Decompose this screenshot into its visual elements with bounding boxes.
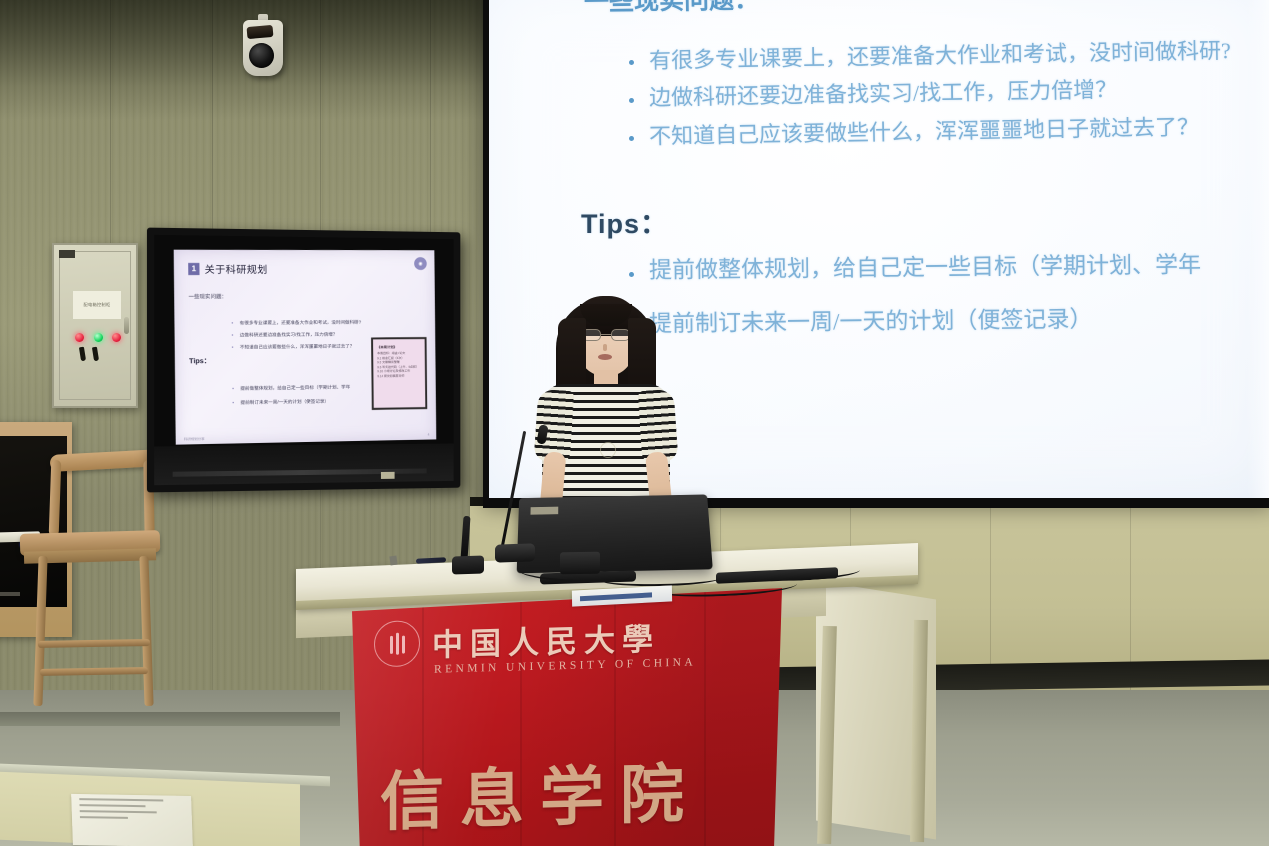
projected-bullet-3: 不知道自己应该要做些什么，浑浑噩噩地日子就过去了？ [649, 109, 1199, 151]
camera-body [243, 20, 283, 76]
chair-rung-lower [40, 667, 148, 676]
panel-switches[interactable] [80, 347, 110, 361]
sticky-note-image: 《本周计划》 本周目标：组会+论文 9.1 组会汇报（2次） 9.3 文献精读整… [371, 337, 427, 410]
slide-title: 关于科研规划 [204, 261, 267, 276]
panel-door-frame [59, 251, 131, 400]
electrical-panel[interactable]: 配电箱控制柜 [52, 243, 138, 408]
name-card-text-strip [580, 592, 652, 601]
desktop-monitor[interactable] [517, 494, 713, 573]
paper-sheet [71, 794, 193, 846]
panel-indicator-lights [75, 333, 121, 342]
lcd-power-led [381, 472, 395, 479]
sticky-note-title: 《本周计划》 [377, 344, 421, 349]
slide-tips-heading: Tips： [189, 356, 211, 366]
slide-page-number: 4 [428, 433, 430, 437]
projected-tip-1: 提前做整体规划，给自己定一些目标（学期计划、学年 [649, 245, 1201, 285]
security-camera-icon [243, 20, 283, 76]
shirt-emblem [600, 442, 616, 458]
screen-right-cutoff [1247, 0, 1269, 498]
bullet-dot-icon [629, 60, 634, 65]
projected-bullet-1: 有很多专业课要上，还要准备大作业和考试，没时间做科研? [649, 33, 1231, 75]
chair-leg-left [33, 556, 47, 706]
camera-ir-strip [247, 25, 274, 39]
chair-rung-upper [38, 639, 150, 648]
presenter-mouth [598, 354, 612, 360]
slide-lead-text: 一些现实问题： [188, 292, 226, 300]
microphone-base[interactable] [495, 543, 535, 562]
small-clip[interactable] [389, 556, 397, 566]
slide-number-badge: 1 [188, 262, 199, 274]
indicator-light-red-1 [75, 333, 84, 342]
indicator-light-green [94, 333, 103, 342]
slide-logo-badge: ◉ [414, 257, 427, 270]
projected-tips-heading: Tips： [581, 202, 668, 241]
lecture-hall-photo: 配电箱控制柜 1 关 [0, 0, 1269, 846]
panel-door-handle[interactable] [124, 317, 129, 334]
presenter [536, 292, 676, 517]
projected-tip-2: 提前制订未来一周/一天的计划（便签记录） [649, 300, 1093, 339]
bullet-dot-icon [629, 272, 634, 277]
switch-lever-2[interactable] [92, 347, 99, 362]
sticky-note-line: 9.14 提交初稿至导师 [377, 373, 421, 378]
panel-tag [59, 250, 75, 258]
panel-label: 配电箱控制柜 [73, 291, 121, 319]
chair-leg-right [139, 556, 153, 706]
list-item: 有很多专业课要上，还要准备大作业和考试，没时间做科研? [240, 320, 399, 326]
lcd-screen: 1 关于科研规划 ◉ 一些现实问题： 有很多专业课要上，还要准备大作业和考试，没… [174, 250, 437, 445]
second-microphone-base[interactable] [452, 555, 484, 574]
floor-step [0, 712, 340, 726]
glasses-icon [582, 329, 630, 341]
cabinet-label-strip [0, 592, 20, 596]
lcd-bottom-bezel [154, 444, 453, 486]
bullet-dot-icon [629, 136, 634, 141]
presenter-nose [603, 344, 607, 351]
wall-lcd-display[interactable]: 1 关于科研规划 ◉ 一些现实问题： 有很多专业课要上，还要准备大作业和考试，没… [147, 228, 460, 493]
banner-department: 信息学院 [380, 742, 700, 843]
slide-problem-bullets: 有很多专业课要上，还要准备大作业和考试，没时间做科研? 边做科研还要边准备找实习… [199, 320, 399, 357]
slide-content: 1 关于科研规划 ◉ 一些现实问题： 有很多专业课要上，还要准备大作业和考试，没… [174, 250, 437, 445]
monitor-label [530, 507, 558, 515]
projected-bullet-2: 边做科研还要边准备找实习/找工作，压力倍增？ [649, 72, 1118, 112]
slide-title-row: 1 关于科研规划 [188, 261, 427, 276]
bullet-dot-icon [629, 98, 634, 103]
wooden-armchair[interactable] [18, 452, 163, 710]
slide-tips-bullets: 提前做整体规划，给自己定一些目标（学期计划、学年 提前制订未来一周/一天的计划（… [200, 385, 399, 416]
indicator-light-red-2 [112, 333, 121, 342]
switch-lever-1[interactable] [79, 347, 86, 362]
slide-footer: 科研规划分享 [184, 436, 205, 441]
red-banner: 中国人民大學 RENMIN UNIVERSITY OF CHINA 信息学院 [352, 588, 782, 846]
glasses-bridge [601, 334, 611, 335]
projected-lead-text: 一些现实问题： [584, 0, 760, 18]
banner-university-chinese: 中国人民大學 [432, 613, 660, 664]
camera-lens [249, 43, 274, 68]
chair-arm-left [49, 460, 62, 536]
